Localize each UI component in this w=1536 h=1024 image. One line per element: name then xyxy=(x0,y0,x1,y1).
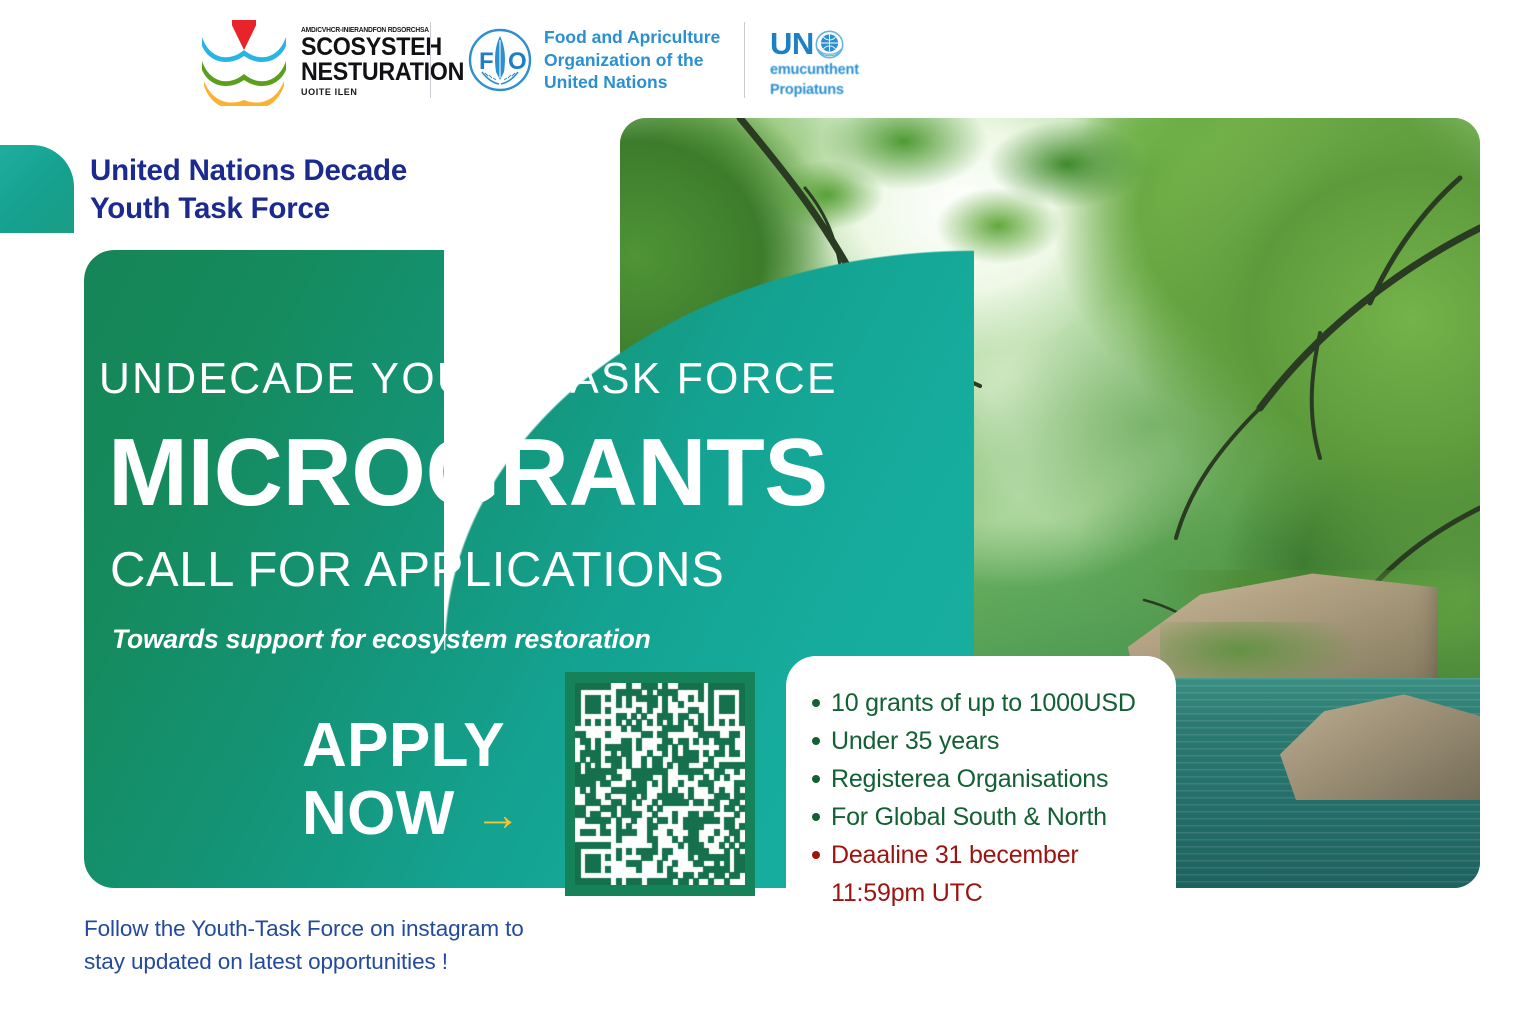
poster-root: AMD/CVHCR-INIERANDFON RDSORCHSA SCOSYSTE… xyxy=(0,0,1536,1024)
list-item: 10 grants of up to 1000USD xyxy=(812,684,1154,722)
un-globe-icon xyxy=(815,30,844,59)
fao-line1: Food and Apriculture xyxy=(544,26,720,49)
logo-bar: AMD/CVHCR-INIERANDFON RDSORCHSA SCOSYSTE… xyxy=(0,0,1536,118)
svg-text:F: F xyxy=(479,48,494,75)
poster-subhead: CALL FOR APPLICATIONS xyxy=(110,542,724,598)
decade-line1: SCOSYSTEH xyxy=(301,35,464,60)
arrow-right-icon: → xyxy=(475,791,521,837)
bullet-dot-icon xyxy=(812,737,820,745)
eligibility-bullet-list: 10 grants of up to 1000USDUnder 35 years… xyxy=(812,684,1154,912)
unep-line1: emucunthent xyxy=(770,61,859,79)
logo-un-environment-programme: UN emucunthent Propiatuns xyxy=(770,28,859,99)
bullet-dot-icon xyxy=(812,851,820,859)
apply-row-2: NOW → xyxy=(302,780,521,848)
decade-emblem-icon xyxy=(196,18,292,102)
fao-emblem-icon: F O xyxy=(468,28,532,92)
poster-tagline: Towards support for ecosystem restoratio… xyxy=(112,622,651,656)
list-item: Deaaline 31 becember 11:59pm UTC xyxy=(812,836,1154,912)
decade-sub-line: UOITE ILEN xyxy=(301,86,476,98)
logo-divider-1 xyxy=(430,22,431,98)
wave-orange-icon xyxy=(200,80,288,110)
poster-kicker: UNDECADE YOUTH TASK FORCE xyxy=(99,355,838,403)
list-item-label: Under 35 years xyxy=(831,722,999,760)
bullet-dot-icon xyxy=(812,699,820,707)
page-title: United Nations Decade Youth Task Force xyxy=(90,152,560,228)
apply-label-line1: APPLY xyxy=(302,712,521,780)
qr-code[interactable] xyxy=(565,672,755,896)
apply-now-cta[interactable]: APPLY NOW → xyxy=(302,712,521,848)
logo-decade-ecosystem-restoration: AMD/CVHCR-INIERANDFON RDSORCHSA SCOSYSTE… xyxy=(196,18,476,102)
apply-label-line2: NOW xyxy=(302,780,455,848)
fao-line2: Organization of the xyxy=(544,49,720,72)
qr-code-canvas[interactable] xyxy=(575,683,745,885)
unep-line2: Propiatuns xyxy=(770,81,859,99)
list-item-label: 10 grants of up to 1000USD xyxy=(831,684,1136,722)
eligibility-card: 10 grants of up to 1000USDUnder 35 years… xyxy=(786,656,1176,948)
list-item: Registerea Organisations xyxy=(812,760,1154,798)
logo-divider-2 xyxy=(744,22,745,98)
list-item-label: For Global South & North xyxy=(831,798,1107,836)
list-item-label: Registerea Organisations xyxy=(831,760,1108,798)
logo-fao: F O Food and Apriculture Organization of… xyxy=(468,26,720,94)
bullet-dot-icon xyxy=(812,775,820,783)
fao-wordmark: Food and Apriculture Organization of the… xyxy=(544,26,720,94)
unep-un-text: UN xyxy=(770,28,814,59)
list-item-label: Deaaline 31 becember 11:59pm UTC xyxy=(831,836,1079,912)
list-item: For Global South & North xyxy=(812,798,1154,836)
footer-note: Follow the Youth-Task Force on instagram… xyxy=(84,912,624,978)
fao-line3: United Nations xyxy=(544,71,720,94)
svg-text:O: O xyxy=(508,48,527,75)
poster-headline: MICROGRANTS xyxy=(108,421,828,525)
list-item: Under 35 years xyxy=(812,722,1154,760)
decade-line2: NESTURATION xyxy=(301,60,464,85)
decade-wordmark: AMD/CVHCR-INIERANDFON RDSORCHSA SCOSYSTE… xyxy=(301,22,476,98)
unep-top-row: UN xyxy=(770,28,859,59)
bullet-dot-icon xyxy=(812,813,820,821)
decorative-teal-tab xyxy=(0,145,74,233)
unep-wordmark: UN emucunthent Propiatuns xyxy=(770,28,859,99)
